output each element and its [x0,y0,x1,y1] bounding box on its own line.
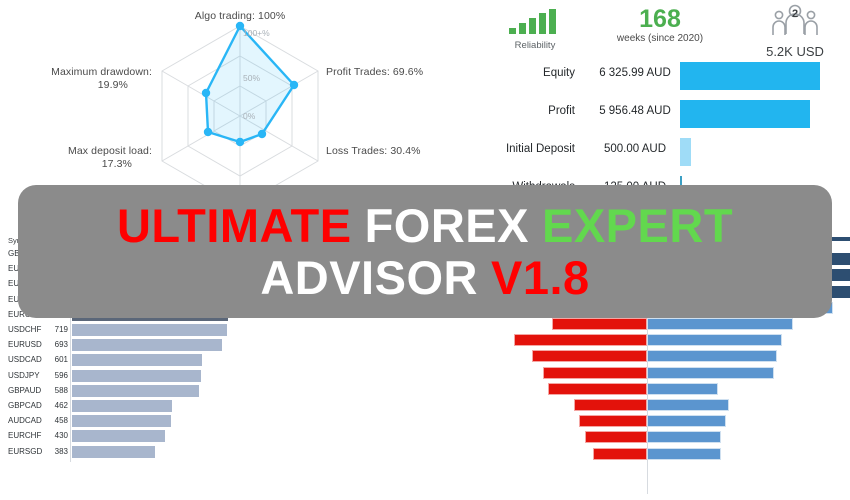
symbol-row: USDJPY596 [0,370,400,384]
symbol-value: 693 [40,340,68,349]
stat-bar-initial-deposit [680,138,691,166]
symbol-row: USDCAD601 [0,354,400,368]
diverging-bar-profit [647,334,782,346]
symbol-name: EURCHF [8,431,41,440]
stat-label-profit: Profit [548,105,575,117]
diverging-bar-profit [647,383,718,395]
symbol-row: EURUSD693 [0,339,400,353]
symbol-bar [72,446,155,458]
stat-row-equity: Equity 6 325.99 AUD [430,58,850,96]
symbol-name: EURUSD [8,340,42,349]
symbol-row: GBPCAD462 [0,400,400,414]
radar-axis-value-maximum-drawdown: 19.9% [0,79,128,92]
radar-ring-label-0: 0% [243,111,255,121]
signal-bars-icon [507,8,563,34]
symbol-name: USDCHF [8,325,41,334]
kpi-reliability: Reliability [480,8,590,51]
symbol-value: 719 [40,325,68,334]
symbol-value: 588 [40,386,68,395]
diverging-bar-loss [579,415,647,427]
promo-word-advisor: ADVISOR [260,251,478,304]
radar-axis-value-max-deposit-load: 17.3% [0,158,132,171]
stat-value-equity: 6 325.99 AUD [580,67,690,79]
diverging-row [400,367,850,381]
diverging-bar-profit [647,350,777,362]
symbol-value: 462 [40,401,68,410]
diverging-bar-loss [593,448,647,460]
promo-word-ultimate: ULTIMATE [117,199,352,252]
symbol-value: 430 [40,431,68,440]
stat-bar-profit [680,100,810,128]
diverging-row [400,448,850,462]
promo-word-forex: FOREX [365,199,529,252]
symbol-bar [72,400,172,412]
symbol-bar [72,385,199,397]
diverging-bar-loss [543,367,647,379]
symbol-name: AUDCAD [8,416,42,425]
kpi-weeks-label: weeks (since 2020) [580,33,740,44]
symbol-bar [72,415,171,427]
stat-value-profit: 5 956.48 AUD [580,105,690,117]
symbol-value: 601 [40,355,68,364]
diverging-row [400,399,850,413]
kpi-subscribers: 2 5.2K USD [730,4,850,59]
promo-word-expert: EXPERT [542,199,733,252]
promo-banner-line-2: ADVISORV1.8 [260,252,589,304]
promo-banner-overlay: ULTIMATEFOREXEXPERT ADVISORV1.8 [18,185,832,318]
diverging-bar-profit [647,318,793,330]
diverging-bar-loss [548,383,647,395]
diverging-bar-loss [514,334,647,346]
radar-ring-label-50: 50% [243,73,260,83]
symbol-row: USDCHF719 [0,324,400,338]
symbol-row: EURCHF430 [0,430,400,444]
symbol-bar [72,430,165,442]
radar-axis-label-max-deposit-load: Max deposit load: [0,145,152,158]
diverging-bar-loss [585,431,647,443]
symbol-bar [72,339,222,351]
diverging-bar-profit [647,415,726,427]
diverging-bar-loss [532,350,647,362]
stat-label-initial-deposit: Initial Deposit [506,143,575,155]
diverging-bar-profit [647,448,721,460]
symbol-name: EURSGD [8,447,42,456]
kpi-weeks: 168 weeks (since 2020) [580,6,740,44]
diverging-row [400,383,850,397]
promo-word-version: V1.8 [491,251,590,304]
promo-banner-line-1: ULTIMATEFOREXEXPERT [117,200,733,252]
symbol-name: GBPCAD [8,401,42,410]
diverging-row [400,431,850,445]
diverging-row [400,415,850,429]
diverging-bar-profit [647,367,774,379]
diverging-row [400,350,850,364]
people-icon-badge: 2 [792,8,798,20]
diverging-bar-loss [574,399,647,411]
symbol-bar [72,324,227,336]
symbol-bar [72,370,201,382]
stat-row-profit: Profit 5 956.48 AUD [430,96,850,134]
stat-value-initial-deposit: 500.00 AUD [580,143,690,155]
kpi-reliability-label: Reliability [480,40,590,51]
kpi-subscribers-label: 5.2K USD [730,44,850,59]
radar-axis-label-algo-trading: Algo trading: 100% [160,10,320,23]
stat-row-initial-deposit: Initial Deposit 500.00 AUD [430,134,850,172]
radar-axis-label-maximum-drawdown: Maximum drawdown: [0,66,152,79]
symbol-name: USDCAD [8,355,42,364]
diverging-bar-profit [647,431,721,443]
symbol-name: USDJPY [8,371,40,380]
symbol-bar [72,354,202,366]
radar-axis-label-loss-trades: Loss Trades: 30.4% [326,145,421,158]
radar-axis-label-profit-trades: Profit Trades: 69.6% [326,66,423,79]
symbol-value: 383 [40,447,68,456]
diverging-bar-profit [647,399,729,411]
diverging-row [400,334,850,348]
people-icon: 2 [769,4,821,38]
diverging-row [400,318,850,332]
symbol-name: GBPAUD [8,386,41,395]
diverging-bar-loss [552,318,647,330]
radar-ring-label-100: 100+% [243,28,270,38]
symbol-row: EURSGD383 [0,446,400,460]
kpi-weeks-value: 168 [580,6,740,33]
symbol-value: 596 [40,371,68,380]
kpi-row: Reliability 168 weeks (since 2020) [430,6,850,58]
symbol-row: GBPAUD588 [0,385,400,399]
symbol-value: 458 [40,416,68,425]
stat-label-equity: Equity [543,67,575,79]
stat-bar-equity [680,62,820,90]
symbol-row: AUDCAD458 [0,415,400,429]
